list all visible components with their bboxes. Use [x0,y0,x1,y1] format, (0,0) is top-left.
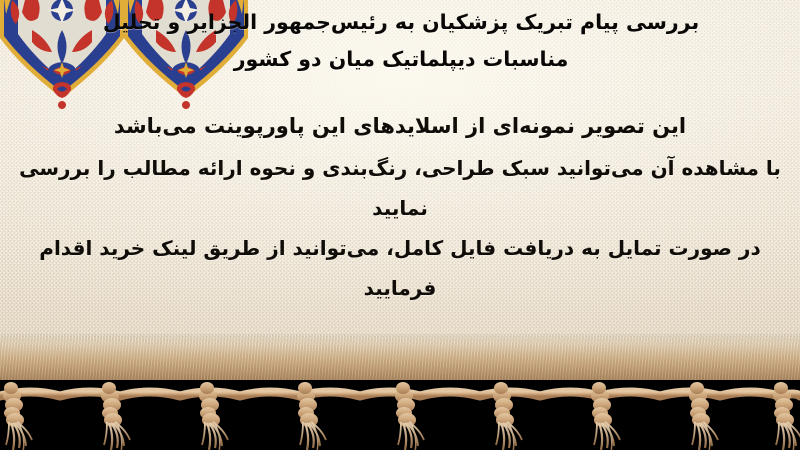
body-line-1: این تصویر نمونه‌ای از اسلایدهای این پاور… [0,106,800,146]
slide-heading: بررسی پیام تبریک پزشکیان به رئیس‌جمهور ا… [16,4,786,78]
body-line-2: با مشاهده آن می‌توانید سبک طراحی، رنگ‌بن… [0,148,800,228]
body-line-3: در صورت تمایل به دریافت فایل کامل، می‌تو… [0,228,800,308]
heading-line-1: بررسی پیام تبریک پزشکیان به رئیس‌جمهور ا… [16,4,786,41]
carpet-fringe-zone [0,330,800,450]
slide-body: این تصویر نمونه‌ای از اسلایدهای این پاور… [0,106,800,308]
slide-canvas: بررسی پیام تبریک پزشکیان به رئیس‌جمهور ا… [0,0,800,450]
fringe-tassel-group [0,330,800,450]
heading-line-2: مناسبات دیپلماتیک میان دو کشور [16,41,786,78]
